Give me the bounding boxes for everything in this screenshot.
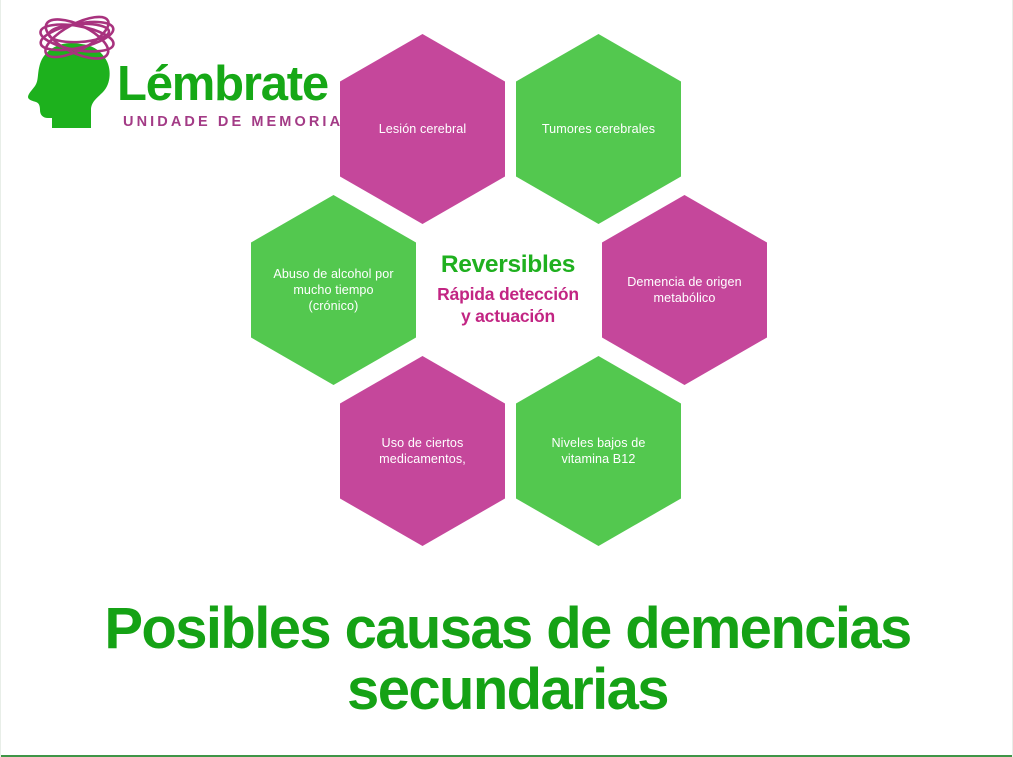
center-subheading: Rápida detección y actuación bbox=[401, 284, 615, 327]
hexagon-demencia-metabolico[interactable]: Demencia de origen metabólico bbox=[602, 195, 767, 385]
hexagon-abuso-de-alcohol[interactable]: Abuso de alcohol por mucho tiempo (cróni… bbox=[251, 195, 416, 385]
page-title: Posibles causas de demencias secundarias bbox=[61, 598, 954, 721]
hexagon-label: Uso de ciertos medicamentos, bbox=[379, 435, 466, 467]
hexagon-tumores-cerebrales[interactable]: Tumores cerebrales bbox=[516, 34, 681, 224]
hexagon-cluster: Lesión cerebral Tumores cerebrales Abuso… bbox=[1, 0, 1013, 580]
hexagon-label: Abuso de alcohol por mucho tiempo (cróni… bbox=[273, 266, 393, 314]
hexagon-label: Niveles bajos de vitamina B12 bbox=[551, 435, 645, 467]
hexagon-label: Tumores cerebrales bbox=[542, 121, 655, 137]
hexagon-label: Demencia de origen metabólico bbox=[627, 274, 742, 306]
hexagon-lesion-cerebral[interactable]: Lesión cerebral bbox=[340, 34, 505, 224]
center-heading: Reversibles bbox=[401, 252, 615, 279]
center-text-block: Reversibles Rápida detección y actuación bbox=[401, 252, 615, 327]
hexagon-uso-de-medicamentos[interactable]: Uso de ciertos medicamentos, bbox=[340, 356, 505, 546]
hexagon-vitamina-b12[interactable]: Niveles bajos de vitamina B12 bbox=[516, 356, 681, 546]
hexagon-label: Lesión cerebral bbox=[379, 121, 467, 137]
slide-canvas: Lémbrate UNIDADE DE MEMORIA Lesión cereb… bbox=[0, 0, 1013, 757]
